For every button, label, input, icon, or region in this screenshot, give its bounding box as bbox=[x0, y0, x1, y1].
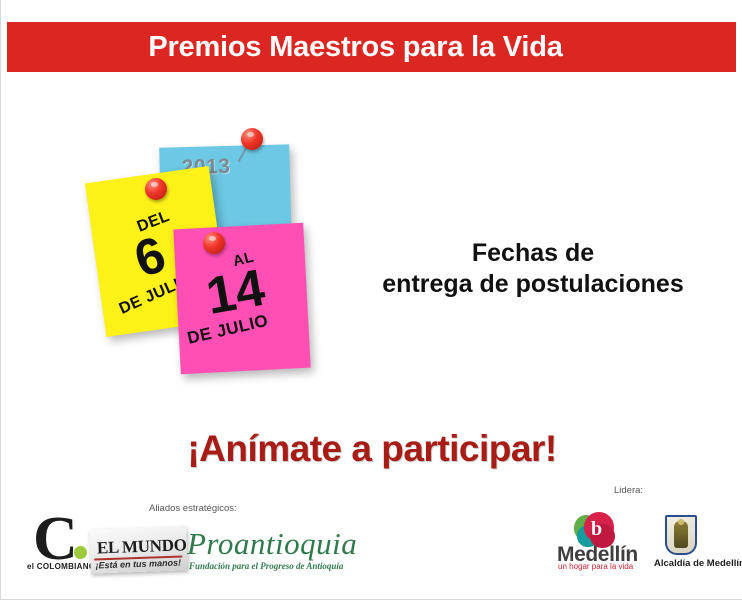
sticky-note-pink: AL 14 DE JULIO bbox=[173, 223, 310, 375]
note-day-6: 6 bbox=[128, 228, 171, 285]
poster-canvas: Premios Maestros para la Vida 2013 DEL 6… bbox=[0, 0, 742, 600]
coat-of-arms-icon bbox=[665, 515, 697, 555]
colombiano-c-mark: C bbox=[33, 508, 78, 570]
leaders-caption: Lidera: bbox=[614, 485, 643, 496]
medellin-glyph: b bbox=[591, 519, 602, 539]
pushpin-icon-pink-note bbox=[203, 232, 225, 254]
page-title: Premios Maestros para la Vida bbox=[148, 31, 562, 64]
dates-heading-line1: Fechas de bbox=[333, 238, 733, 269]
allies-caption: Aliados estratégicos: bbox=[149, 503, 237, 514]
pushpin-icon-yellow-note bbox=[145, 178, 167, 200]
colombiano-dot-icon bbox=[74, 546, 87, 559]
proantioquia-tagline: Fundación para el Progreso de Antioquia bbox=[189, 561, 343, 571]
header-banner: Premios Maestros para la Vida bbox=[7, 22, 736, 72]
sticky-notes-group: 2013 DEL 6 DE JULIO AL 14 DE JULIO bbox=[93, 126, 353, 386]
logo-medellin: b Medellín un hogar para la vida bbox=[557, 512, 643, 574]
pushpin-icon-blue-note bbox=[241, 128, 263, 150]
colombiano-wordmark: el COLOMBIANO bbox=[27, 562, 95, 571]
call-to-action-text: ¡Anímate a participar! bbox=[1, 428, 742, 470]
dates-heading: Fechas de entrega de postulaciones bbox=[333, 238, 733, 300]
logo-proantioquia: Proantioquia Fundación para el Progreso … bbox=[187, 526, 357, 574]
logo-alcaldia-de-medellin: Alcaldía de Medellín bbox=[654, 515, 740, 575]
logo-el-mundo: EL MUNDO ¡Está en tus manos! bbox=[89, 526, 187, 573]
coat-of-arms-figure bbox=[674, 521, 688, 548]
alcaldia-wordmark: Alcaldía de Medellín bbox=[654, 558, 742, 569]
proantioquia-wordmark: Proantioquia bbox=[187, 526, 357, 562]
dates-heading-line2: entrega de postulaciones bbox=[333, 269, 733, 300]
medellin-tagline: un hogar para la vida bbox=[558, 562, 633, 571]
